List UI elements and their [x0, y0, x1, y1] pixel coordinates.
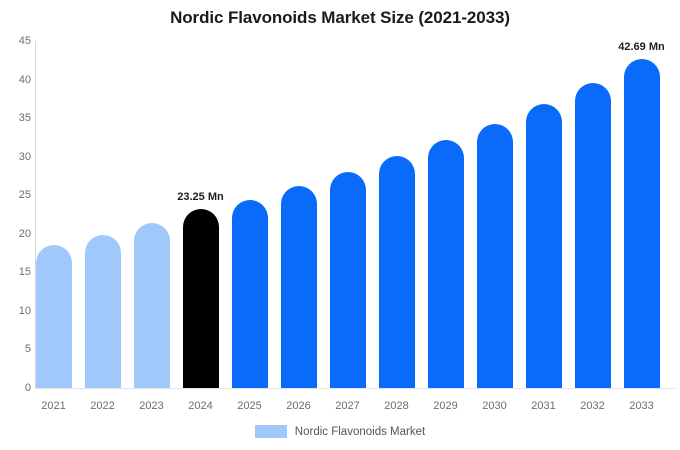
- bar-2032[interactable]: [575, 83, 611, 388]
- y-axis-tick-label: 10: [5, 305, 31, 317]
- x-axis-tick-label-2032: 2032: [569, 400, 617, 412]
- y-axis-tick-label: 0: [5, 382, 31, 394]
- bar-2021[interactable]: [36, 245, 72, 388]
- x-axis-tick-label-2023: 2023: [128, 400, 176, 412]
- x-axis-tick-label-2028: 2028: [373, 400, 421, 412]
- bar-2029[interactable]: [428, 140, 464, 388]
- x-axis-tick-label-2026: 2026: [275, 400, 323, 412]
- x-axis-tick-label-2031: 2031: [520, 400, 568, 412]
- bars-layer: [35, 41, 675, 388]
- chart-legend: Nordic Flavonoids Market: [0, 425, 680, 438]
- legend-label-nordic-flavonoids-market: Nordic Flavonoids Market: [295, 426, 425, 438]
- chart-title: Nordic Flavonoids Market Size (2021-2033…: [0, 8, 680, 28]
- bar-2028[interactable]: [379, 156, 415, 388]
- bar-2023[interactable]: [134, 223, 170, 388]
- y-axis-tick-label: 25: [5, 189, 31, 201]
- bar-value-label-2033: 42.69 Mn: [618, 41, 664, 53]
- x-axis-tick-label-2025: 2025: [226, 400, 274, 412]
- bar-2030[interactable]: [477, 124, 513, 388]
- bar-2031[interactable]: [526, 104, 562, 388]
- x-axis-tick-label-2022: 2022: [79, 400, 127, 412]
- bar-value-label-2024: 23.25 Mn: [177, 191, 223, 203]
- x-axis-tick-label-2033: 2033: [618, 400, 666, 412]
- bar-2024[interactable]: [183, 209, 219, 388]
- x-axis-line: [35, 388, 675, 389]
- x-axis-tick-label-2029: 2029: [422, 400, 470, 412]
- bar-2027[interactable]: [330, 172, 366, 388]
- x-axis-tick-label-2021: 2021: [30, 400, 78, 412]
- x-axis-tick-label-2024: 2024: [177, 400, 225, 412]
- y-axis-tick-label: 15: [5, 266, 31, 278]
- y-axis: 051015202530354045: [0, 0, 31, 450]
- legend-swatch-nordic-flavonoids-market: [255, 425, 287, 438]
- bar-2033[interactable]: [624, 59, 660, 388]
- y-axis-tick-label: 20: [5, 228, 31, 240]
- y-axis-tick-label: 30: [5, 151, 31, 163]
- bar-2026[interactable]: [281, 186, 317, 388]
- bar-2022[interactable]: [85, 235, 121, 388]
- y-axis-tick-label: 5: [5, 343, 31, 355]
- x-axis-tick-label-2027: 2027: [324, 400, 372, 412]
- y-axis-tick-label: 35: [5, 112, 31, 124]
- plot-area: [35, 41, 675, 388]
- y-axis-tick-label: 45: [5, 35, 31, 47]
- bar-chart: Nordic Flavonoids Market Size (2021-2033…: [0, 0, 680, 450]
- y-axis-tick-label: 40: [5, 74, 31, 86]
- x-axis-tick-label-2030: 2030: [471, 400, 519, 412]
- bar-2025[interactable]: [232, 200, 268, 388]
